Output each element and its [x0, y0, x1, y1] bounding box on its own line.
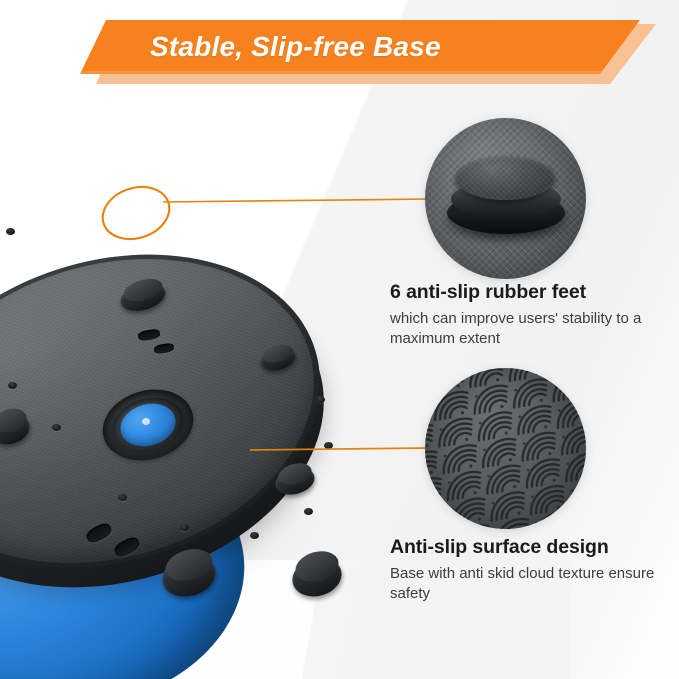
callout-heading-feet: 6 anti-slip rubber feet — [390, 281, 670, 304]
callout-text-surface: Anti-slip surface design Base with anti … — [390, 536, 670, 604]
callout-body-surface: Base with anti skid cloud texture ensure… — [390, 564, 670, 604]
banner-title: Stable, Slip-free Base — [150, 20, 620, 74]
headline-banner: Stable, Slip-free Base — [0, 12, 679, 92]
rubber-foot-closeup-circle — [425, 118, 586, 279]
screw-point — [316, 396, 325, 403]
circle-vignette — [425, 118, 586, 279]
anti-slip-texture-closeup-circle — [425, 368, 586, 529]
screw-point — [52, 424, 61, 431]
screw-point — [250, 532, 259, 539]
screw-point — [180, 524, 189, 531]
callout-text-feet: 6 anti-slip rubber feet which can improv… — [390, 281, 670, 349]
callout-body-feet: which can improve users' stability to a … — [390, 309, 670, 349]
product-photo — [0, 96, 410, 656]
screw-point — [304, 508, 313, 515]
screw-point — [324, 442, 333, 449]
screw-point — [8, 382, 17, 389]
screw-point — [118, 494, 127, 501]
circle-vignette — [425, 368, 586, 529]
screw-point — [6, 228, 15, 235]
callout-heading-surface: Anti-slip surface design — [390, 536, 670, 559]
infographic-canvas: Stable, Slip-free Base — [0, 0, 679, 679]
center-hub-dot — [142, 418, 150, 425]
